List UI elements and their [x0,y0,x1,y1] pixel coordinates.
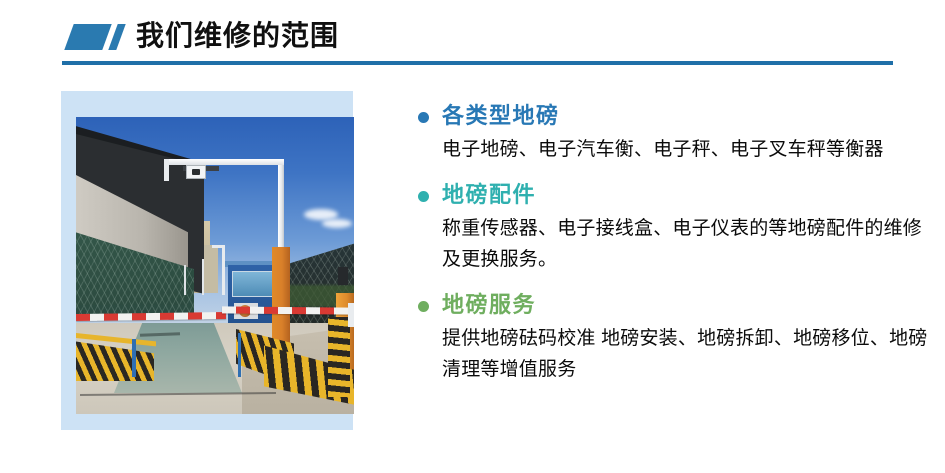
dot-bullet-icon [418,112,429,123]
hazard-post-far-right [328,317,350,397]
list-item-body: 称重传感器、电子接线盒、电子仪表的等地磅配件的维修及更换服务。 [442,213,934,275]
list-item: 地磅配件 称重传感器、电子接线盒、电子仪表的等地磅配件的维修及更换服务。 [414,179,934,275]
page-title: 我们维修的范围 [136,16,339,56]
orange-pillar [272,247,290,347]
mark-slab-thin [108,24,125,50]
guard-booth-window [232,271,276,297]
sensor-box [338,267,348,285]
barrier-gate-arm-right [222,306,354,314]
lamp-post [184,265,186,295]
lamp-arm [212,245,224,248]
truck-scale-weighbridge-photo [76,117,354,414]
list-item-heading: 地磅配件 [442,179,934,211]
photo-block [61,91,355,431]
service-scope-list: 各类型地磅 电子地磅、电子汽车衡、电子秤、电子叉车秤等衡器 地磅配件 称重传感器… [414,100,934,399]
blue-railing-post [238,333,241,377]
list-item: 各类型地磅 电子地磅、电子汽车衡、电子秤、电子叉车秤等衡器 [414,100,934,165]
camera-lens [192,169,200,175]
camera-gantry-arm [164,159,284,165]
mark-slab-large [64,24,111,50]
camera-gantry-arm-tip [164,159,169,181]
cloud [322,219,352,228]
header-divider [62,61,893,65]
parallelogram-slash-icon [65,24,125,50]
list-item: 地磅服务 提供地磅砝码校准 地磅安装、地磅拆卸、地磅移位、地磅清理等增值服务 [414,289,934,385]
dot-bullet-icon [418,191,429,202]
list-item-heading: 各类型地磅 [442,100,934,132]
list-item-body: 提供地磅砝码校准 地磅安装、地磅拆卸、地磅移位、地磅清理等增值服务 [442,323,934,385]
barrier-gate-post [348,303,354,327]
list-item-heading: 地磅服务 [442,289,934,321]
slide-header: 我们维修的范围 [0,0,945,72]
blue-railing-post [132,339,136,377]
dot-bullet-icon [418,301,429,312]
list-item-body: 电子地磅、电子汽车衡、电子秤、电子叉车秤等衡器 [442,134,934,165]
lamp-post [222,245,225,295]
lamp-post [202,259,204,295]
